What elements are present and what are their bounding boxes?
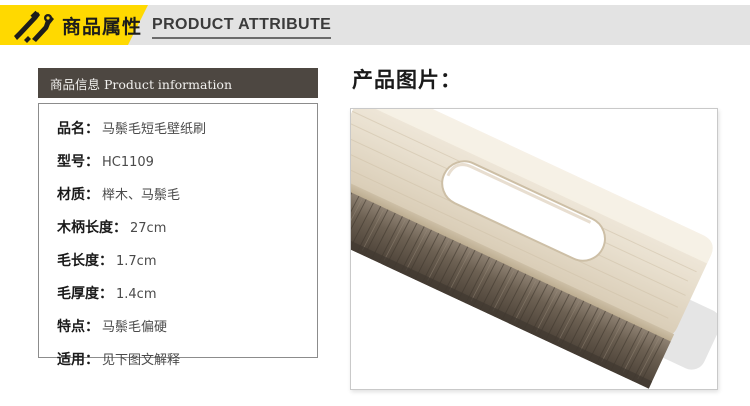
spec-value: 马鬃毛偏硬 xyxy=(102,316,167,335)
info-panel-header: 商品信息 Product information xyxy=(38,68,318,98)
spec-value: 榉木、马鬃毛 xyxy=(102,184,180,203)
page-header: 商品属性 PRODUCT ATTRIBUTE xyxy=(0,5,750,45)
spec-row: 材质： 榉木、马鬃毛 xyxy=(57,184,317,204)
spec-key: 毛长度： xyxy=(57,250,113,270)
spec-key: 材质： xyxy=(57,184,99,204)
spec-row: 特点： 马鬃毛偏硬 xyxy=(57,316,317,336)
spec-row: 适用： 见下图文解释 xyxy=(57,349,317,369)
brush-illustration xyxy=(351,109,717,389)
info-panel-header-label: 商品信息 Product information xyxy=(50,74,232,93)
spec-row: 毛长度： 1.7cm xyxy=(57,250,317,270)
spec-key: 毛厚度： xyxy=(57,283,113,303)
spec-row: 品名： 马鬃毛短毛壁纸刷 xyxy=(57,118,317,138)
spec-value: 27cm xyxy=(130,221,166,236)
spec-key: 特点： xyxy=(57,316,99,336)
spec-table: 品名： 马鬃毛短毛壁纸刷 型号： HC1109 材质： 榉木、马鬃毛 木柄长度：… xyxy=(38,103,318,358)
spec-value: HC1109 xyxy=(102,155,154,170)
spec-key: 型号： xyxy=(57,151,99,171)
spec-value: 1.7cm xyxy=(116,254,157,269)
product-information-panel: 商品信息 Product information 品名： 马鬃毛短毛壁纸刷 型号… xyxy=(38,68,318,358)
spec-row: 木柄长度： 27cm xyxy=(57,217,317,237)
spec-value: 马鬃毛短毛壁纸刷 xyxy=(102,118,206,137)
spec-row: 型号： HC1109 xyxy=(57,151,317,171)
header-title-cn: 商品属性 xyxy=(62,12,142,39)
product-photo-title: 产品图片： xyxy=(352,64,462,94)
tools-icon xyxy=(8,9,58,43)
spec-key: 品名： xyxy=(57,118,99,138)
product-photo xyxy=(350,108,718,390)
spec-row: 毛厚度： 1.4cm xyxy=(57,283,317,303)
spec-key: 适用： xyxy=(57,349,99,369)
spec-key: 木柄长度： xyxy=(57,217,127,237)
header-title-en: PRODUCT ATTRIBUTE xyxy=(152,16,331,39)
spec-value: 见下图文解释 xyxy=(102,349,180,368)
spec-value: 1.4cm xyxy=(116,287,157,302)
